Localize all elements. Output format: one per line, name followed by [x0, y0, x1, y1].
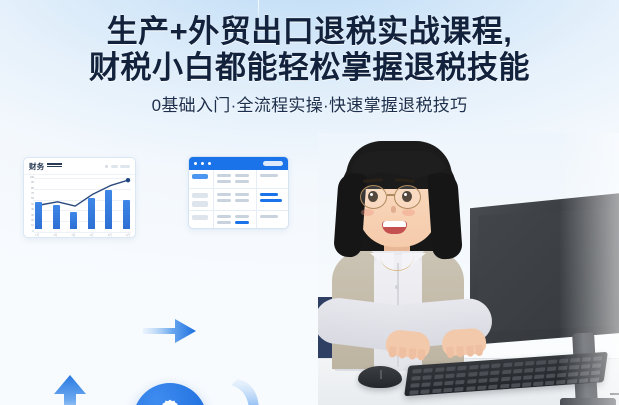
keyboard-key [409, 390, 419, 395]
text-line [217, 221, 231, 224]
keyboard-key [523, 375, 533, 380]
monitor-base [560, 398, 616, 405]
keyboard-key [580, 371, 590, 376]
finger [446, 347, 454, 358]
keyboard-key [557, 373, 567, 378]
keyboard-key [446, 366, 456, 371]
keyboard-key [433, 381, 443, 386]
chip-gray-icon [192, 201, 208, 207]
table-cell [214, 170, 257, 189]
keyboard-key [514, 362, 524, 367]
keyboard-key [491, 363, 501, 368]
hair-strand-right [427, 172, 463, 260]
keyboard-key [556, 380, 566, 385]
cheek-blush-left [361, 209, 374, 216]
keyboard-key [558, 366, 568, 371]
keyboard-key [502, 370, 512, 375]
person-at-computer-illustration [318, 133, 619, 405]
chart-x-tick: 1月 [35, 233, 39, 237]
hand-right [441, 327, 487, 356]
chart-y-axis-labels: 1009080706050403020100 [25, 178, 34, 232]
table-cell [214, 189, 257, 211]
browser-title-bar [189, 157, 288, 170]
window-dot-icon [201, 162, 204, 165]
keyboard-key [591, 370, 601, 375]
keyboard-key [524, 368, 534, 373]
text-line [235, 193, 249, 196]
chart-bar [53, 205, 60, 229]
line-pair [217, 221, 253, 224]
keyboard-key [533, 381, 543, 386]
arrow-right-icon [141, 310, 199, 352]
declaration-table-card [188, 156, 289, 229]
keyboard-key [490, 370, 500, 375]
table-cell [214, 211, 257, 229]
keyboard-key [479, 371, 489, 376]
text-line [217, 193, 231, 196]
chart-plot-area: 1009080706050403020100 1月2月3月4月5月6月 [24, 175, 135, 238]
keyboard-key [592, 363, 602, 368]
keyboard-key [513, 369, 523, 374]
keyboard-key [466, 386, 476, 391]
bar-small-icon [111, 165, 118, 168]
glasses-lens-left [360, 185, 387, 209]
nose [391, 206, 396, 213]
monitor-bezel-inner [478, 208, 616, 332]
keyboard-key [435, 367, 445, 372]
chart-x-axis-labels: 1月2月3月4月5月6月 [35, 233, 130, 237]
keyboard-key [567, 379, 577, 384]
chart-header-controls [105, 165, 130, 168]
keyboard-key [559, 359, 569, 364]
page-title-line-2: 财税小白都能轻松掌握退税技能 [0, 50, 619, 86]
keyboard-key [410, 383, 420, 388]
keyboard-key [581, 364, 591, 369]
header-block: 生产+外贸出口退税实战课程, 财税小白都能轻松掌握退税技能 0基础入门·全流程实… [0, 0, 619, 117]
keyboard-key [423, 375, 433, 380]
chart-bar [123, 200, 130, 229]
finger [466, 345, 474, 356]
keyboard-key [535, 367, 545, 372]
chart-x-tick: 5月 [108, 233, 112, 237]
table-cell [189, 189, 214, 211]
poster-canvas: 生产+外贸出口退税实战课程, 财税小白都能轻松掌握退税技能 0基础入门·全流程实… [0, 0, 619, 405]
keyboard-key [548, 359, 558, 364]
chart-bar [70, 212, 77, 229]
keyboard-key [480, 364, 490, 369]
workflow-infographic: 财务 1009080706050403020100 1月2月3月4月5月6月 [0, 140, 320, 405]
keyboard-key [546, 374, 556, 379]
page-title-line-1: 生产+外贸出口退税实战课程, [0, 14, 619, 50]
window-dot-icon [208, 162, 211, 165]
text-line-highlight [235, 221, 249, 224]
keyboard-key [412, 369, 422, 374]
text-line [217, 215, 231, 218]
keyboard-key [570, 358, 580, 363]
keyboard-key [547, 366, 557, 371]
line-pair [217, 174, 253, 177]
keyboard-key [468, 372, 478, 377]
keyboard-key [488, 385, 498, 390]
cheek-blush-right [402, 209, 415, 216]
table-cell [257, 170, 288, 189]
keyboard-key [534, 374, 544, 379]
teeth [383, 221, 406, 227]
keyboard-key [582, 357, 592, 362]
mouse-wheel [380, 370, 382, 379]
gear-icon [158, 398, 182, 405]
glasses-lens-right [394, 185, 421, 209]
keyboard-key [445, 374, 455, 379]
arrow-down-icon [228, 376, 284, 405]
mouse [358, 366, 402, 388]
chart-card-title: 财务 [29, 161, 44, 172]
keyboard-key [503, 363, 513, 368]
finance-chart-card: 财务 1009080706050403020100 1月2月3月4月5月6月 [23, 157, 136, 238]
table-grid [189, 170, 288, 229]
shirt-button [395, 285, 399, 289]
chart-x-tick: 6月 [126, 233, 130, 237]
keyboard-key [522, 382, 532, 387]
chart-bar [88, 198, 95, 229]
text-line [235, 180, 249, 183]
keyboard-key [593, 356, 603, 361]
keyboard-key [579, 378, 589, 383]
text-line [235, 174, 249, 177]
table-cell [257, 211, 288, 229]
chart-bar [35, 202, 42, 229]
keyboard-key [500, 384, 510, 389]
keyboard-key [434, 374, 444, 379]
keyboard-key [456, 373, 466, 378]
table-cell [257, 189, 288, 211]
text-line [217, 174, 231, 177]
keyboard-key [422, 382, 432, 387]
table-cell [189, 211, 214, 229]
keyboard-key [478, 378, 488, 383]
keyboard-key [569, 365, 579, 370]
text-line [217, 180, 231, 183]
chart-x-tick: 3月 [71, 233, 75, 237]
hair-strand-left [333, 172, 367, 258]
keyboard-key [457, 366, 467, 371]
keyboard-key [512, 376, 522, 381]
arrow-up-icon [48, 372, 92, 405]
chart-card-header: 财务 [24, 158, 135, 175]
text-line [217, 199, 231, 202]
keyboard-key [444, 381, 454, 386]
monitor-cable [610, 371, 619, 395]
keyboard-key [489, 378, 499, 383]
keyboard-key [568, 372, 578, 377]
text-line [260, 174, 278, 177]
keyboard-key [590, 377, 600, 382]
bar-large-icon [120, 165, 130, 168]
keyboard-key [467, 379, 477, 384]
window-dot-icon [194, 162, 197, 165]
keyboard-key [443, 388, 453, 393]
chart-x-tick: 4月 [90, 233, 94, 237]
keyboard-key [477, 385, 487, 390]
keyboard-key [536, 360, 546, 365]
line-pair [217, 199, 253, 202]
glasses-bridge [387, 194, 395, 196]
table-cell [189, 170, 214, 189]
keyboard-key [469, 365, 479, 370]
keyboard-key [511, 383, 521, 388]
title-rule-icon [47, 163, 62, 168]
text-line-highlight [260, 199, 282, 202]
text-line-highlight [260, 193, 278, 196]
chip-gray-icon [192, 193, 208, 199]
text-line [235, 215, 249, 218]
line-pair [217, 215, 253, 218]
export-declaration-badge[interactable]: 出口单 [133, 383, 207, 405]
keyboard-key [454, 387, 464, 392]
keyboard-key [432, 389, 442, 394]
chip-blue-icon [192, 174, 208, 180]
chart-x-tick: 2月 [53, 233, 57, 237]
keyboard-key [421, 389, 431, 394]
finger [456, 346, 464, 357]
page-subtitle: 0基础入门·全流程实操·快速掌握退税技巧 [0, 95, 619, 117]
text-line [260, 215, 278, 218]
keyboard-key [411, 376, 421, 381]
line-pair [217, 180, 253, 183]
keyboard-key [545, 381, 555, 386]
chart-bar [105, 190, 112, 229]
finger [475, 345, 483, 356]
keyboard-key [501, 377, 511, 382]
text-line [235, 199, 249, 202]
keyboard-key [525, 361, 535, 366]
keyboard-key [424, 368, 434, 373]
keyboard-key [455, 380, 465, 385]
chart-bars [35, 182, 130, 229]
address-bar-pill [263, 161, 283, 166]
chip-gray-icon [192, 215, 208, 221]
dot-icon [105, 165, 108, 168]
line-pair [217, 193, 253, 196]
